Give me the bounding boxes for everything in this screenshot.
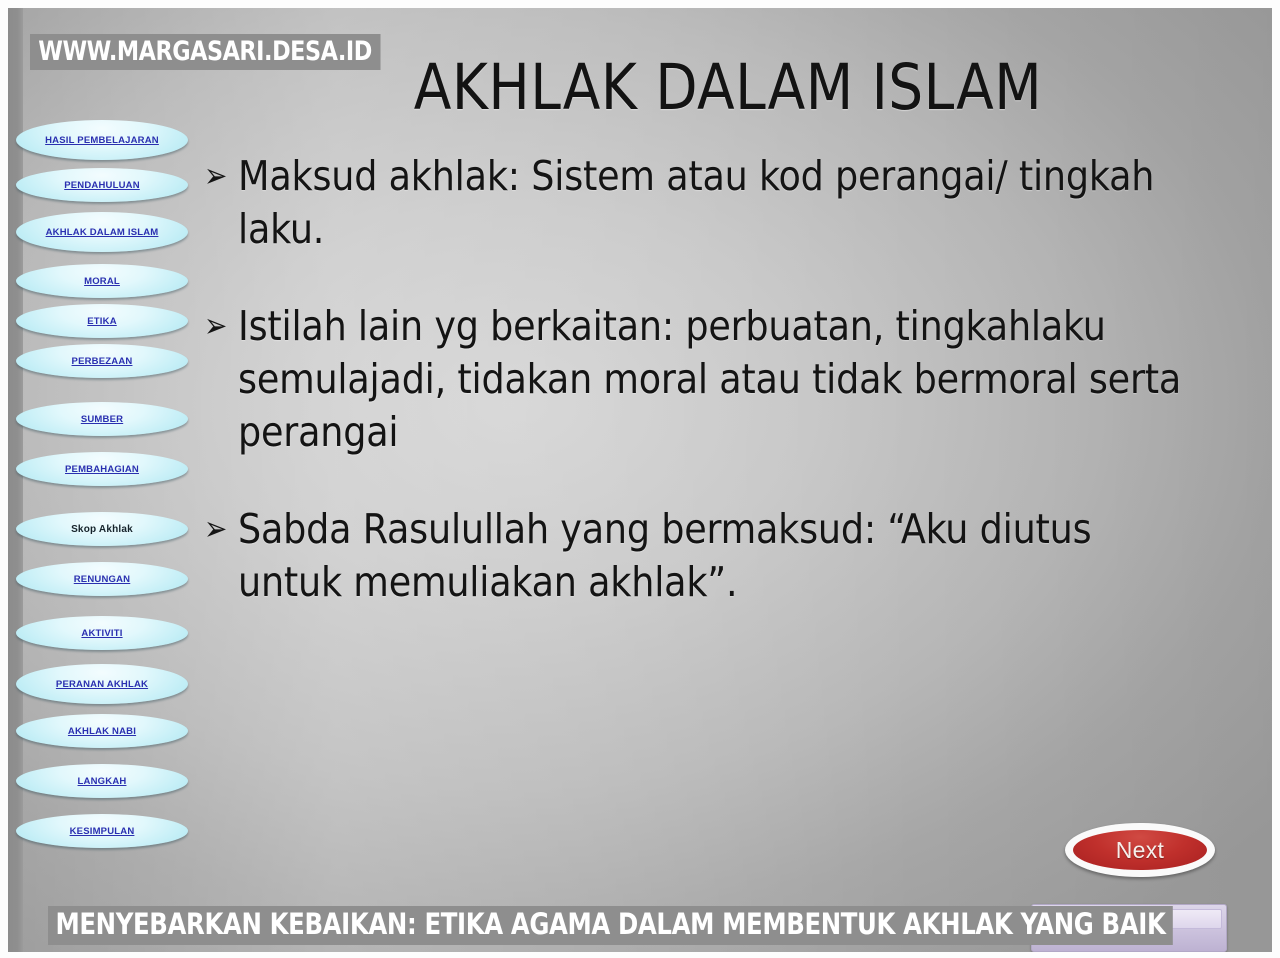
sidebar-item-perbezaan[interactable]: PERBEZAAN [16, 344, 188, 378]
sidebar-item-label: KESIMPULAN [64, 826, 141, 837]
sidebar-item-label: PERANAN AKHLAK [50, 679, 154, 690]
sidebar-item-pendahuluan[interactable]: PENDAHULUAN [16, 168, 188, 202]
sidebar-item-label: LANGKAH [72, 776, 133, 787]
bullet-row: ➢Istilah lain yg berkaitan: perbuatan, t… [204, 300, 1214, 459]
sidebar-item-akhlak-dalam-islam[interactable]: AKHLAK DALAM ISLAM [16, 212, 188, 252]
sidebar-item-aktiviti[interactable]: AKTIVITI [16, 616, 188, 650]
sidebar-item-kesimpulan[interactable]: KESIMPULAN [16, 814, 188, 848]
sidebar-item-akhlak-nabi[interactable]: AKHLAK NABI [16, 714, 188, 748]
sidebar-item-peranan-akhlak[interactable]: PERANAN AKHLAK [16, 664, 188, 704]
sidebar-item-label: PERBEZAAN [66, 356, 139, 367]
bullet-text: Istilah lain yg berkaitan: perbuatan, ti… [238, 300, 1204, 459]
sidebar-item-label: HASIL PEMBELAJARAN [39, 135, 165, 146]
sidebar-item-moral[interactable]: MORAL [16, 264, 188, 298]
sidebar-item-label: SUMBER [75, 414, 129, 425]
next-button-label: Next [1116, 837, 1165, 864]
arrow-bullet-icon: ➢ [204, 150, 232, 202]
bullet-row: ➢Maksud akhlak: Sistem atau kod perangai… [204, 150, 1214, 256]
bullet-row: ➢Sabda Rasulullah yang bermaksud: “Aku d… [204, 503, 1214, 609]
sidebar-item-etika[interactable]: ETIKA [16, 304, 188, 338]
sidebar-item-label: PEMBAHAGIAN [59, 464, 145, 475]
sidebar-item-label: Skop Akhlak [65, 524, 139, 535]
sidebar-item-label: RENUNGAN [68, 574, 137, 585]
sidebar-item-sumber[interactable]: SUMBER [16, 402, 188, 436]
bullet-text: Sabda Rasulullah yang bermaksud: “Aku di… [238, 503, 1204, 609]
sidebar-item-langkah[interactable]: LANGKAH [16, 764, 188, 798]
sidebar-item-hasil-pembelajaran[interactable]: HASIL PEMBELAJARAN [16, 120, 188, 160]
sidebar-item-skop-akhlak[interactable]: Skop Akhlak [16, 512, 188, 546]
sidebar-item-renungan[interactable]: RENUNGAN [16, 562, 188, 596]
bullet-text: Maksud akhlak: Sistem atau kod perangai/… [238, 150, 1204, 256]
sidebar-item-label: ETIKA [81, 316, 123, 327]
sidebar-item-label: PENDAHULUAN [58, 180, 146, 191]
next-button[interactable]: Next [1065, 823, 1215, 877]
arrow-bullet-icon: ➢ [204, 300, 232, 352]
sidebar-item-label: AKHLAK DALAM ISLAM [40, 227, 165, 238]
slide-title: AKHLAK DALAM ISLAM [214, 56, 1242, 119]
sidebar-nav: HASIL PEMBELAJARANPENDAHULUANAKHLAK DALA… [16, 120, 192, 860]
slide-frame: WWW.MARGASARI.DESA.ID HASIL PEMBELAJARAN… [0, 0, 1280, 958]
sidebar-item-pembahagian[interactable]: PEMBAHAGIAN [16, 452, 188, 486]
bullet-list: ➢Maksud akhlak: Sistem atau kod perangai… [204, 150, 1214, 653]
caption-banner: MENYEBARKAN KEBAIKAN: ETIKA AGAMA DALAM … [48, 906, 1173, 945]
arrow-bullet-icon: ➢ [204, 503, 232, 555]
sidebar-item-label: AKHLAK NABI [62, 726, 142, 737]
sidebar-item-label: MORAL [78, 276, 126, 287]
next-button-fill: Next [1073, 830, 1207, 870]
sidebar-item-label: AKTIVITI [75, 628, 128, 639]
slide-canvas: WWW.MARGASARI.DESA.ID HASIL PEMBELAJARAN… [8, 8, 1272, 952]
